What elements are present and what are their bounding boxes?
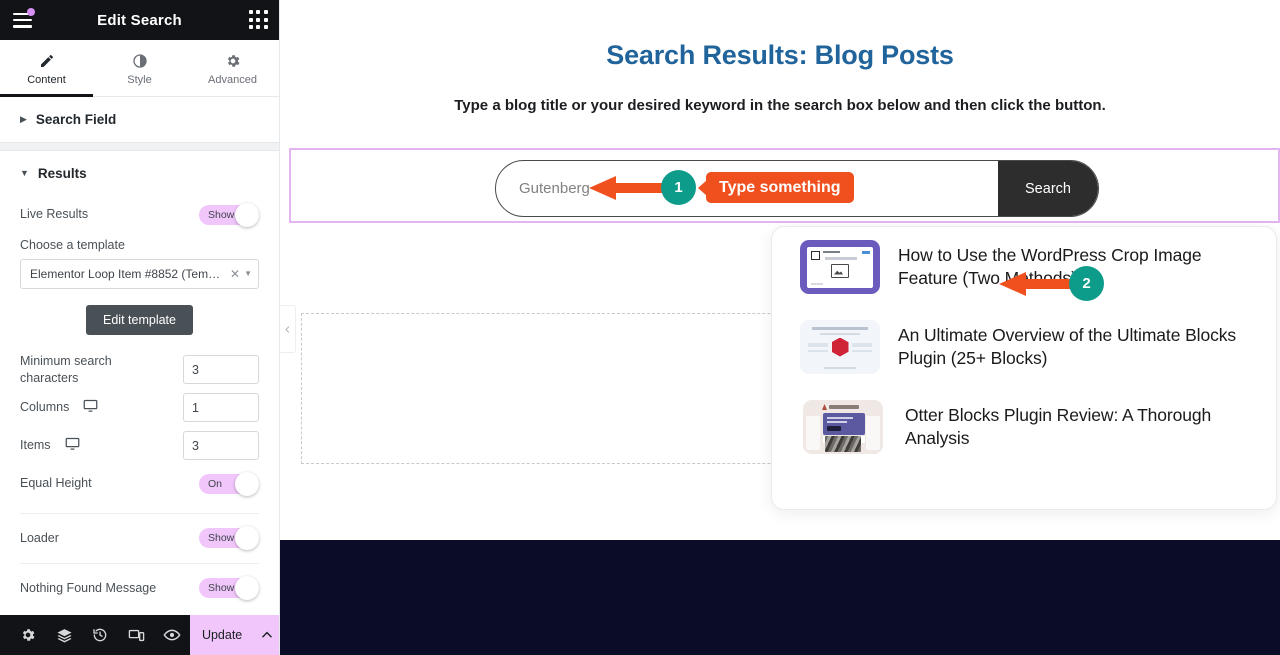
annotation-tooltip-1: Type something [706, 172, 854, 203]
grid-apps-icon[interactable] [249, 10, 269, 30]
arrow-left-icon [999, 272, 1026, 296]
chevron-down-icon: ▼ [20, 169, 29, 178]
history-icon[interactable] [82, 615, 118, 655]
loader-label: Loader [20, 530, 59, 547]
update-button[interactable]: Update [190, 615, 254, 655]
annotation-badge-2: 2 [1069, 266, 1104, 301]
min-chars-input[interactable] [183, 355, 259, 384]
wordpress-crop-image-thumbnail [800, 240, 880, 294]
contrast-circle-icon [132, 52, 148, 70]
desktop-device-icon[interactable] [65, 436, 80, 456]
search-submit-button[interactable]: Search [998, 160, 1098, 217]
ultimate-blocks-thumbnail [800, 320, 880, 374]
gear-icon [225, 52, 241, 70]
panel-footer-bar: Update [0, 615, 279, 655]
template-select[interactable]: Elementor Loop Item #8852 (Templa... ✕ ▼ [20, 259, 259, 289]
choose-template-label: Choose a template [20, 234, 259, 259]
columns-input[interactable] [183, 393, 259, 422]
elementor-editor: Edit Search Content Style [0, 0, 1280, 655]
desktop-device-icon[interactable] [83, 398, 98, 418]
toggle-knob [235, 576, 259, 600]
equal-height-toggle[interactable]: On [199, 474, 259, 494]
chevron-up-icon[interactable] [254, 615, 279, 655]
control-live-results: Live Results Show [20, 196, 259, 234]
loader-toggle-label: Show [199, 532, 234, 544]
otter-blocks-thumbnail [803, 400, 883, 454]
editor-panel: Edit Search Content Style [0, 0, 280, 655]
control-columns: Columns [20, 389, 259, 427]
loader-toggle[interactable]: Show [199, 528, 259, 548]
chevron-down-icon: ▼ [244, 269, 252, 278]
results-controls: Live Results Show Choose a template Elem… [0, 196, 279, 615]
control-nothing-found-message: Nothing Found Message Show [20, 563, 259, 613]
edit-template-button[interactable]: Edit template [86, 305, 193, 335]
panel-tabs: Content Style Advanced [0, 40, 279, 96]
control-loader: Loader Show [20, 513, 259, 563]
live-results-toggle[interactable]: Show [199, 205, 259, 225]
tab-advanced-label: Advanced [208, 74, 257, 86]
result-title[interactable]: An Ultimate Overview of the Ultimate Blo… [898, 324, 1254, 370]
eye-preview-icon[interactable] [154, 615, 190, 655]
section-results[interactable]: ▼ Results [0, 151, 279, 196]
tab-style-label: Style [127, 74, 151, 86]
nothing-found-toggle[interactable]: Show [199, 578, 259, 598]
panel-collapse-handle[interactable] [280, 305, 296, 353]
clear-icon[interactable]: ✕ [230, 267, 240, 281]
page-title: Search Results: Blog Posts [280, 0, 1280, 71]
result-item[interactable]: Otter Blocks Plugin Review: A Thorough A… [772, 387, 1276, 467]
columns-label: Columns [20, 399, 69, 416]
gear-icon[interactable] [10, 615, 46, 655]
notification-dot-icon [27, 8, 35, 16]
annotation-badge-1: 1 [661, 170, 696, 205]
live-results-toggle-label: Show [199, 209, 234, 221]
tab-content-label: Content [27, 74, 66, 86]
page-subtitle: Type a blog title or your desired keywor… [280, 71, 1280, 114]
result-item[interactable]: An Ultimate Overview of the Ultimate Blo… [772, 307, 1276, 387]
equal-height-label: Equal Height [20, 475, 92, 492]
arrow-left-icon [589, 176, 616, 200]
page-footer [280, 540, 1280, 655]
control-minimum-search-characters: Minimum search characters [20, 351, 259, 389]
pencil-icon [39, 52, 55, 70]
live-results-label: Live Results [20, 206, 88, 223]
preview-canvas: Search Results: Blog Posts Type a blog t… [280, 0, 1280, 655]
tab-style[interactable]: Style [93, 40, 186, 95]
nothing-found-label: Nothing Found Message [20, 580, 156, 597]
toggle-knob [235, 472, 259, 496]
items-input[interactable] [183, 431, 259, 460]
panel-header: Edit Search [0, 0, 279, 40]
panel-title: Edit Search [0, 12, 279, 29]
tab-advanced[interactable]: Advanced [186, 40, 279, 95]
items-label: Items [20, 437, 51, 454]
toggle-knob [235, 203, 259, 227]
layers-icon[interactable] [46, 615, 82, 655]
section-search-field[interactable]: ▶ Search Field [0, 97, 279, 142]
control-equal-height: Equal Height On [20, 465, 259, 503]
hamburger-menu-icon[interactable] [10, 7, 36, 33]
section-results-label: Results [38, 166, 87, 181]
nothing-found-toggle-label: Show [199, 582, 234, 594]
section-search-field-label: Search Field [36, 112, 116, 127]
tab-content[interactable]: Content [0, 40, 93, 95]
min-chars-label: Minimum search characters [20, 353, 150, 387]
equal-height-toggle-label: On [199, 478, 222, 490]
toggle-knob [235, 526, 259, 550]
result-title[interactable]: Otter Blocks Plugin Review: A Thorough A… [905, 404, 1254, 450]
responsive-devices-icon[interactable] [118, 615, 154, 655]
chevron-right-icon: ▶ [20, 115, 27, 124]
live-results-dropdown: How to Use the WordPress Crop Image Feat… [771, 226, 1277, 510]
control-items: Items [20, 427, 259, 465]
template-select-value: Elementor Loop Item #8852 (Templa... [30, 267, 226, 281]
section-divider [0, 142, 279, 151]
